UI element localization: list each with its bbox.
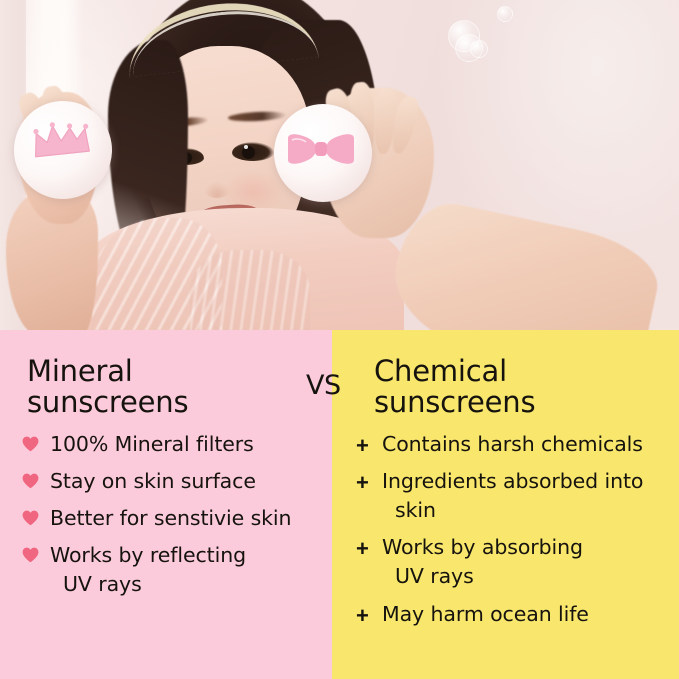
heart-icon (22, 541, 50, 564)
heart-icon (22, 504, 50, 527)
chemical-drawback-list: + Contains harsh chemicals + Ingredients… (354, 430, 676, 637)
list-item: + Contains harsh chemicals (354, 430, 676, 459)
bubble-icon (470, 40, 488, 58)
list-item: + Ingredients absorbed intoskin (354, 467, 676, 525)
heart-icon (22, 467, 50, 490)
mineral-panel-title: Mineral sunscreens (27, 356, 188, 418)
plus-icon: + (354, 430, 382, 455)
plus-icon: + (354, 600, 382, 625)
product-photo (0, 0, 679, 330)
list-item: Better for senstivie skin (22, 504, 328, 533)
list-item-label: Ingredients absorbed intoskin (382, 467, 643, 525)
list-item-label: Better for senstivie skin (50, 504, 291, 533)
list-item: Works by reflectingUV rays (22, 541, 328, 599)
list-item-label: Works by absorbingUV rays (382, 533, 583, 591)
list-item-label: May harm ocean life (382, 600, 589, 629)
list-item-continuation: UV rays (382, 562, 583, 591)
list-item-label: Stay on skin surface (50, 467, 256, 496)
chemical-panel-title: Chemical sunscreens (374, 356, 535, 418)
list-item: + May harm ocean life (354, 600, 676, 629)
list-item-continuation: skin (382, 496, 643, 525)
crown-icon (28, 117, 94, 163)
list-item-label: 100% Mineral filters (50, 430, 254, 459)
comparison-section: Mineral sunscreens VS Chemical sunscreen… (0, 330, 679, 679)
list-item-label: Works by reflectingUV rays (50, 541, 246, 599)
plus-icon: + (354, 467, 382, 492)
eye-right (232, 142, 274, 161)
plus-icon: + (354, 533, 382, 558)
bubble-icon (497, 6, 513, 22)
mineral-benefit-list: 100% Mineral filters Stay on skin surfac… (22, 430, 328, 608)
eye-highlight (244, 145, 248, 149)
infographic-canvas: Mineral sunscreens VS Chemical sunscreen… (0, 0, 679, 679)
heart-icon (22, 430, 50, 453)
list-item: 100% Mineral filters (22, 430, 328, 459)
vs-label: VS (306, 370, 341, 401)
list-item: Stay on skin surface (22, 467, 328, 496)
list-item-label: Contains harsh chemicals (382, 430, 643, 459)
list-item: + Works by absorbingUV rays (354, 533, 676, 591)
bow-icon (286, 132, 356, 166)
nose (204, 182, 230, 198)
dress-ruffle (190, 250, 310, 330)
list-item-continuation: UV rays (50, 570, 246, 599)
